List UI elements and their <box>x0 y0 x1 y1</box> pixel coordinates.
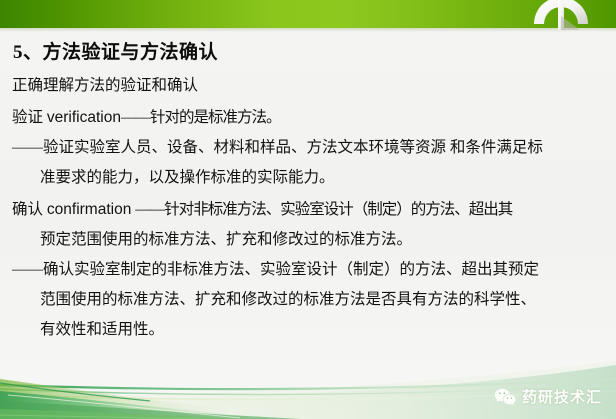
confirmation-heading-2: 预定范围使用的标准方法、扩充和修改过的标准方法。 <box>40 231 412 248</box>
confirmation-label-en: confirmation <box>47 201 131 218</box>
verification-label-en: verification <box>47 109 121 126</box>
confirmation-body-2: 范围使用的标准方法、扩充和修改过的标准方法是否具有方法的科学性、 <box>40 291 536 308</box>
paragraph-confirmation-heading-line2: 预定范围使用的标准方法、扩充和修改过的标准方法。 <box>12 225 616 255</box>
paragraph-verification-body-line2: 准要求的能力，以及操作标准的实际能力。 <box>12 163 616 193</box>
paragraph-confirmation-heading: 确认 confirmation ——针对非标准方法、实验室设计（制定）的方法、超… <box>12 195 616 225</box>
watermark: 药研技术汇 <box>494 386 602 407</box>
confirmation-body-1: ——确认实验室制定的非标准方法、实验室设计（制定）的方法、超出其预定 <box>12 261 539 278</box>
wechat-icon <box>494 387 516 406</box>
paragraph-confirmation-body-line1: ——确认实验室制定的非标准方法、实验室设计（制定）的方法、超出其预定 <box>12 255 616 285</box>
intro-text: 正确理解方法的验证和确认 <box>12 77 198 94</box>
bottom-swoosh-decoration <box>0 339 616 419</box>
page-title: 5、方法验证与方法确认 <box>13 40 616 66</box>
verification-body-2: 准要求的能力，以及操作标准的实际能力。 <box>40 169 335 186</box>
confirmation-heading-tail: ——针对非标准方法、实验室设计（制定）的方法、超出其 <box>135 201 512 218</box>
paragraph-intro: 正确理解方法的验证和确认 <box>12 71 616 101</box>
header-green-band <box>0 0 616 28</box>
paragraph-verification-heading: 验证 verification——针对的是标准方法。 <box>12 103 616 133</box>
verification-body-1: ——验证实验室人员、设备、材料和样品、方法文本环境等资源 和条件满足标 <box>12 139 543 156</box>
confirmation-body-3: 有效性和适用性。 <box>40 321 164 338</box>
verification-label-cn: 验证 <box>12 109 43 126</box>
confirmation-label-cn: 确认 <box>12 201 43 218</box>
paragraph-confirmation-body-line3: 有效性和适用性。 <box>12 315 616 345</box>
paragraph-confirmation-body-line2: 范围使用的标准方法、扩充和修改过的标准方法是否具有方法的科学性、 <box>12 285 616 315</box>
watermark-text: 药研技术汇 <box>522 386 602 407</box>
verification-heading-tail: ——针对的是标准方法。 <box>121 109 281 126</box>
slide-body: 5、方法验证与方法确认 正确理解方法的验证和确认 验证 verification… <box>0 32 616 345</box>
slide-canvas: 5、方法验证与方法确认 正确理解方法的验证和确认 验证 verification… <box>0 0 616 419</box>
paragraph-verification-body-line1: ——验证实验室人员、设备、材料和样品、方法文本环境等资源 和条件满足标 <box>12 133 616 163</box>
